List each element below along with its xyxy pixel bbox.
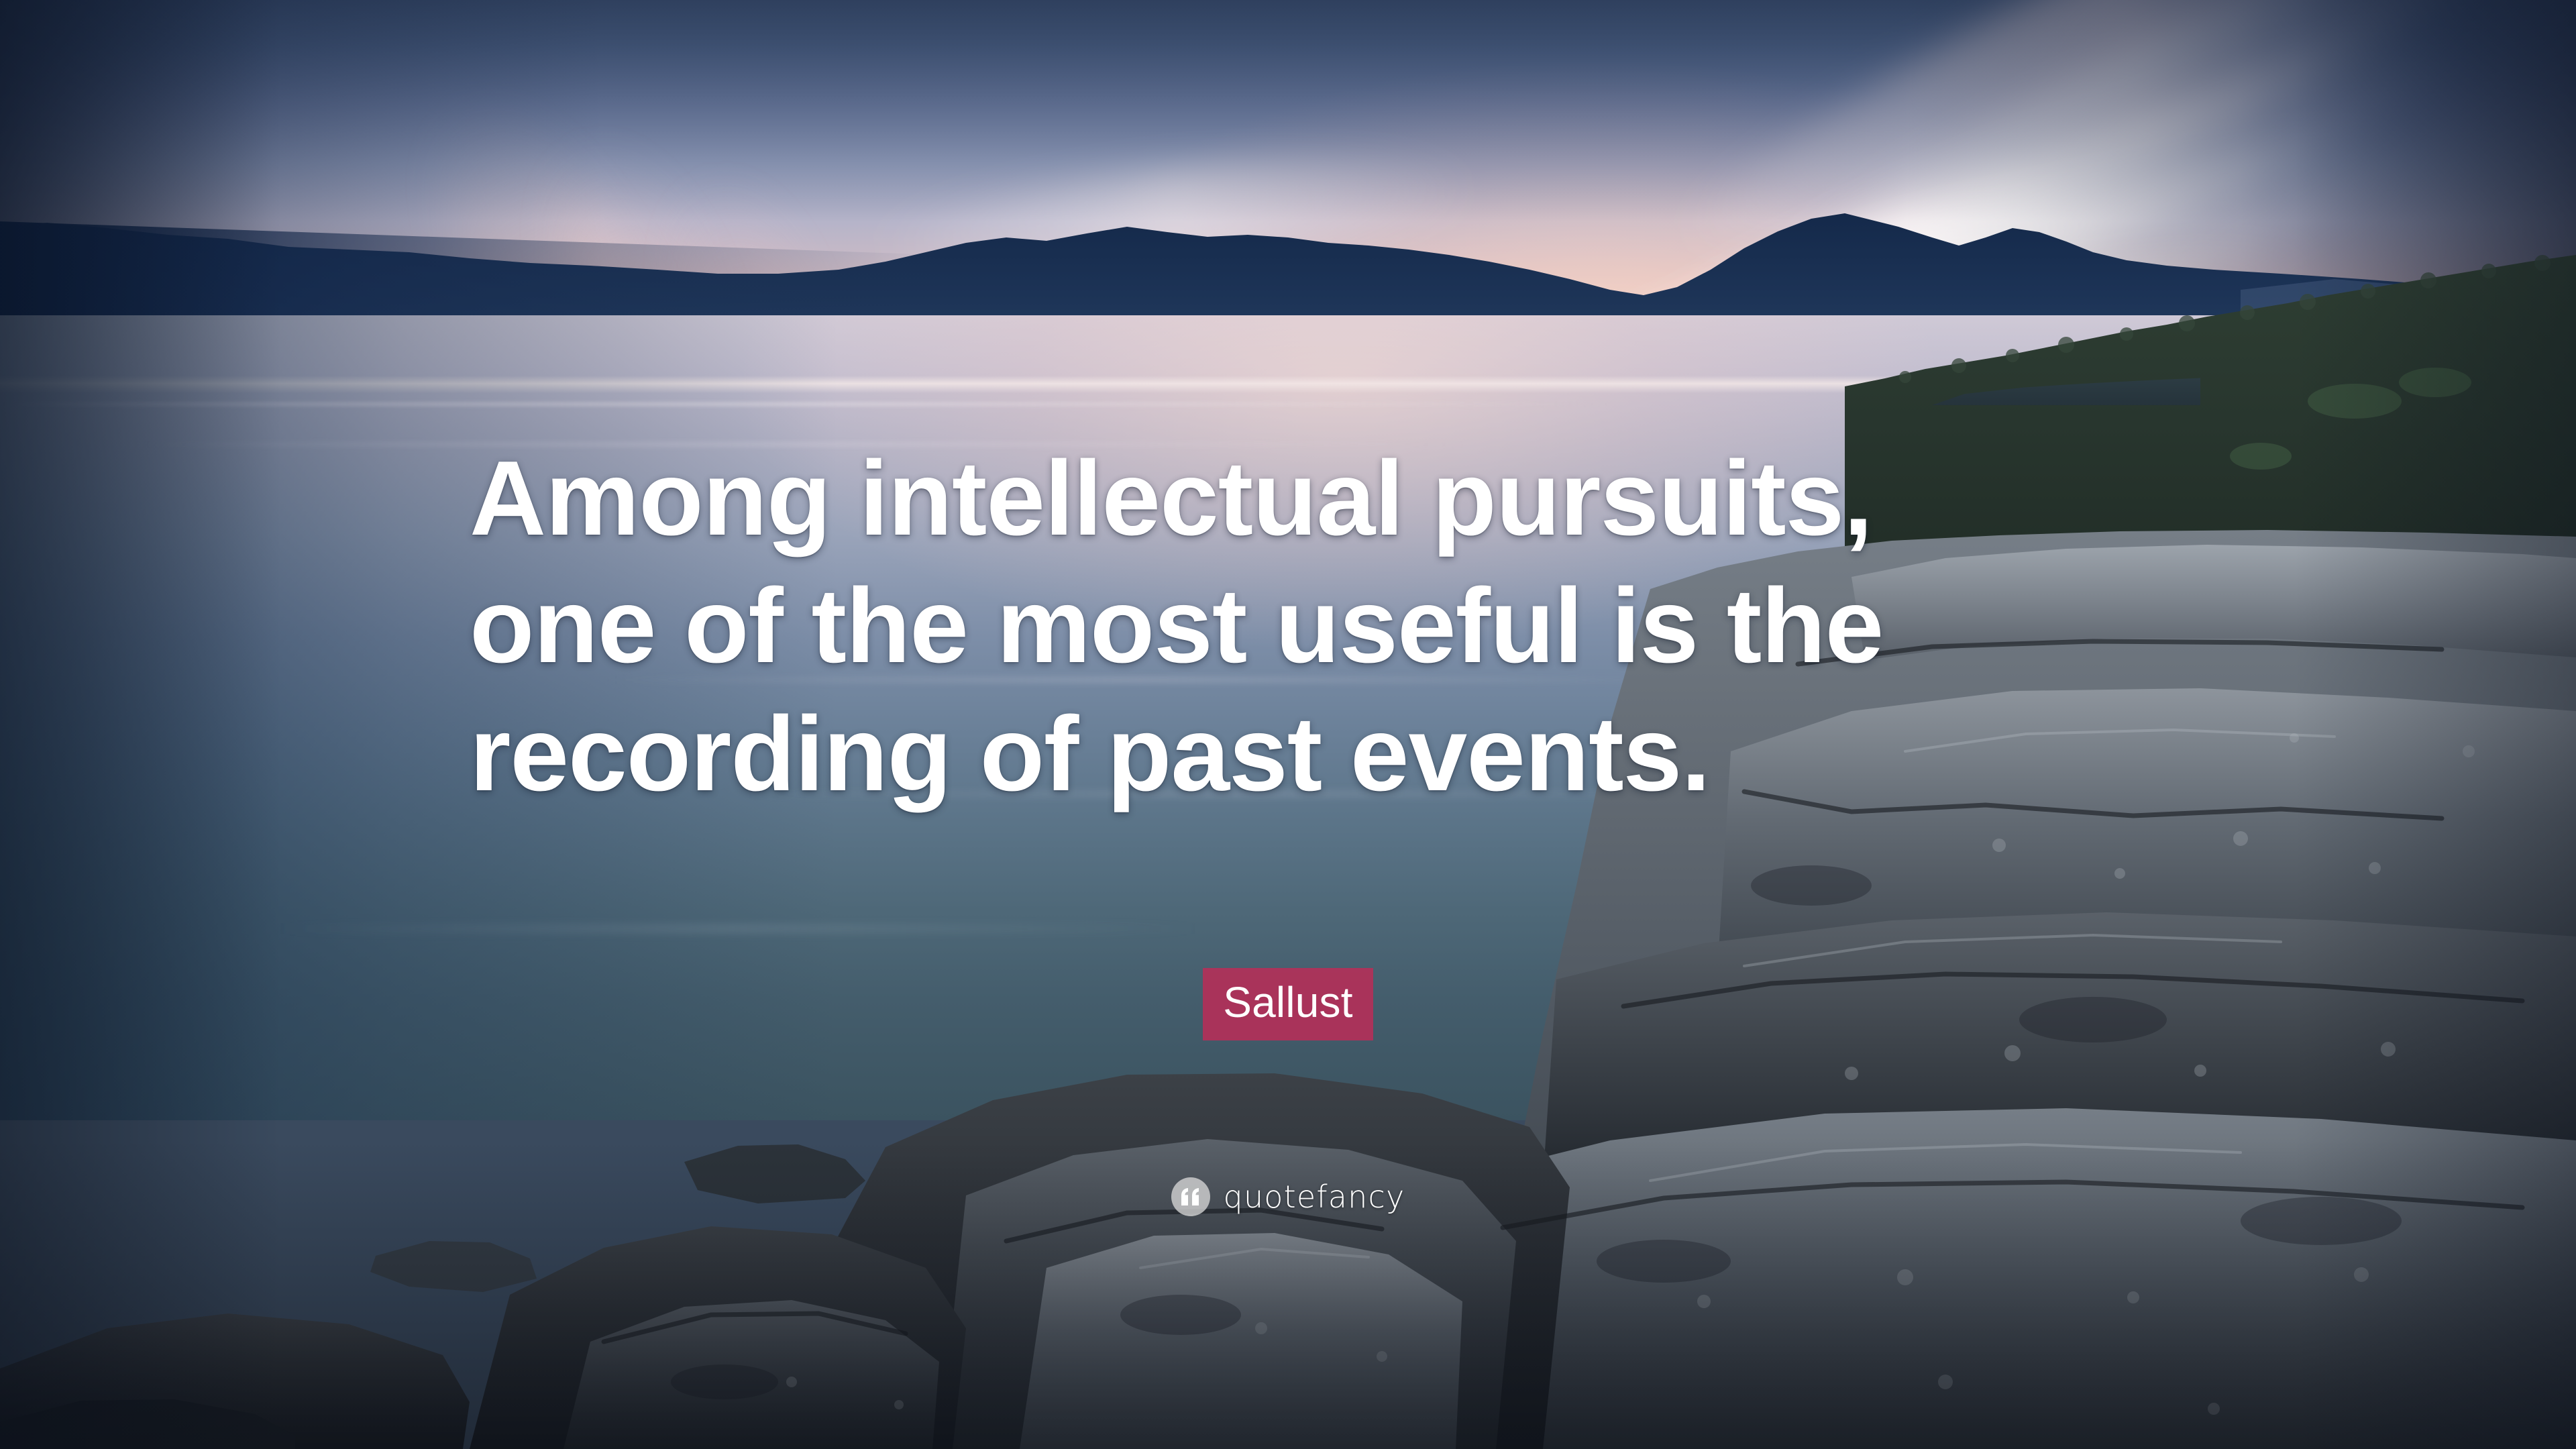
overlay-content: Among intellectual pursuits, one of the … <box>0 0 2576 1449</box>
author-row: Sallust <box>0 968 2576 1040</box>
quote-poster: Among intellectual pursuits, one of the … <box>0 0 2576 1449</box>
brand-name: quotefancy <box>1224 1181 1405 1212</box>
brand-row[interactable]: quotefancy <box>0 1177 2576 1216</box>
double-quote-icon <box>1171 1177 1210 1216</box>
quote-line-3: recording of past events. <box>470 690 2147 818</box>
author-badge[interactable]: Sallust <box>1203 968 1373 1040</box>
quote-text: Among intellectual pursuits, one of the … <box>470 435 2147 818</box>
quote-line-1: Among intellectual pursuits, <box>470 435 2147 562</box>
quote-line-2: one of the most useful is the <box>470 562 2147 690</box>
